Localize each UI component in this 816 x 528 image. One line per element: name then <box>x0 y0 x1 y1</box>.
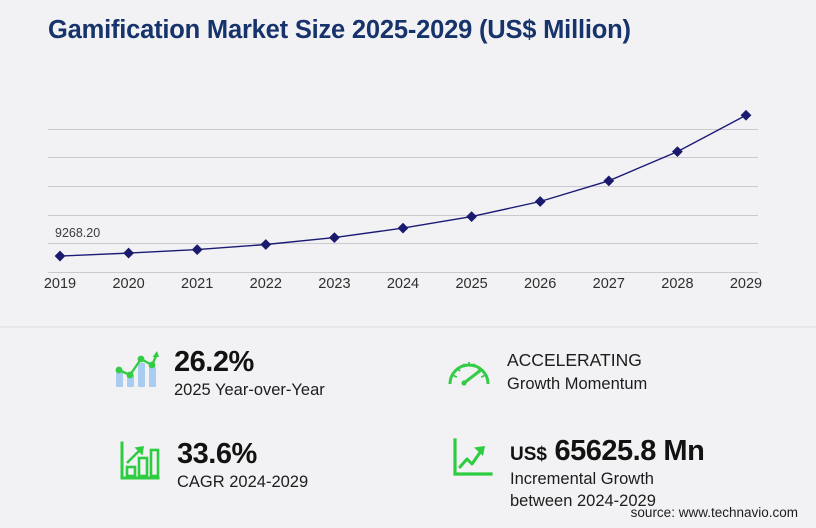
x-axis-line <box>48 272 758 273</box>
stats-section: 26.2% 2025 Year-over-Year <box>0 330 816 500</box>
section-divider <box>0 326 816 328</box>
stat-caption-line1: Incremental Growth <box>510 469 704 490</box>
stat-text: ACCELERATING Growth Momentum <box>507 348 647 395</box>
bar-chart-arrow-icon <box>115 438 163 484</box>
x-axis-tick-label: 2023 <box>318 276 350 292</box>
data-point-marker <box>55 251 66 262</box>
x-axis-labels: 2019202020212022202320242025202620272028… <box>48 276 758 300</box>
data-point-marker <box>123 248 134 259</box>
x-axis-tick-label: 2026 <box>524 276 556 292</box>
series-line <box>60 115 746 256</box>
plot-area: 9268.20 <box>48 100 758 272</box>
stat-value: 33.6% <box>177 439 308 470</box>
stat-text: 26.2% 2025 Year-over-Year <box>174 346 325 402</box>
stat-card-momentum: ACCELERATING Growth Momentum <box>445 348 647 395</box>
data-point-marker <box>535 196 546 207</box>
infographic-root: Gamification Market Size 2025-2029 (US$ … <box>0 0 816 528</box>
stat-card-incremental: US$ 65625.8 Mn Incremental Growth betwee… <box>448 435 704 512</box>
line-series <box>48 100 758 272</box>
stat-caption: Growth Momentum <box>507 374 647 395</box>
x-axis-tick-label: 2025 <box>455 276 487 292</box>
stat-unit: US$ <box>510 444 547 465</box>
stat-value: US$ 65625.8 Mn <box>510 436 704 467</box>
chart-panel: 9268.20 20192020202120222023202420252026… <box>0 76 816 286</box>
stat-headline: ACCELERATING <box>507 349 647 372</box>
x-axis-tick-label: 2028 <box>661 276 693 292</box>
stat-card-yoy: 26.2% 2025 Year-over-Year <box>112 346 325 402</box>
speedometer-icon <box>445 348 493 394</box>
data-point-marker <box>603 175 614 186</box>
x-axis-tick-label: 2021 <box>181 276 213 292</box>
line-chart-arrow-icon <box>448 435 496 481</box>
x-axis-tick-label: 2029 <box>730 276 762 292</box>
data-point-marker <box>329 232 340 243</box>
x-axis-tick-label: 2019 <box>44 276 76 292</box>
bar-line-growth-icon <box>112 346 160 392</box>
stat-value: 26.2% <box>174 347 325 378</box>
x-axis-tick-label: 2027 <box>593 276 625 292</box>
data-point-marker <box>260 239 271 250</box>
data-point-marker <box>466 211 477 222</box>
stat-card-cagr: 33.6% CAGR 2024-2029 <box>115 438 308 494</box>
stat-text: US$ 65625.8 Mn Incremental Growth betwee… <box>510 435 704 512</box>
stat-text: 33.6% CAGR 2024-2029 <box>177 438 308 494</box>
page-title: Gamification Market Size 2025-2029 (US$ … <box>48 16 631 45</box>
x-axis-tick-label: 2022 <box>250 276 282 292</box>
data-point-marker <box>398 223 409 234</box>
x-axis-tick-label: 2020 <box>112 276 144 292</box>
stat-amount: 65625.8 Mn <box>555 435 705 467</box>
stat-caption: CAGR 2024-2029 <box>177 472 308 493</box>
data-point-marker <box>672 146 683 157</box>
data-point-marker <box>741 110 752 121</box>
stat-caption: 2025 Year-over-Year <box>174 380 325 401</box>
data-point-label: 9268.20 <box>55 226 100 240</box>
x-axis-tick-label: 2024 <box>387 276 419 292</box>
source-attribution: source: www.technavio.com <box>631 505 798 520</box>
data-point-marker <box>192 244 203 255</box>
